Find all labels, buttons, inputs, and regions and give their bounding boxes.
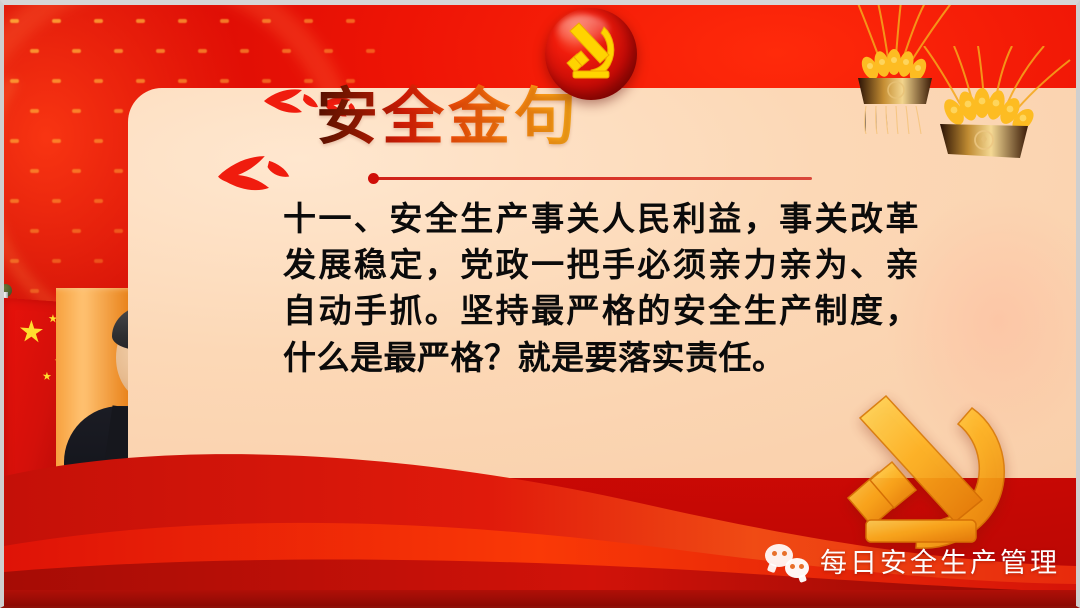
particle-dot xyxy=(52,19,61,23)
particle-dot xyxy=(30,229,39,233)
quote-body-text: 十一、安全生产事关人民利益，事关改革发展稳定，党政一把手必须亲力亲为、亲自动手抓… xyxy=(283,196,919,381)
watermark: 每日安全生产管理 xyxy=(765,541,1060,580)
particle-dot xyxy=(156,49,165,53)
particle-dot xyxy=(262,79,271,83)
particle-dot xyxy=(30,49,39,53)
particle-dot xyxy=(10,139,19,143)
particle-dot xyxy=(304,79,313,83)
dove-icon xyxy=(262,88,318,122)
particle-dot xyxy=(30,109,39,113)
particle-dot xyxy=(94,19,103,23)
particle-dot xyxy=(94,79,103,83)
particle-dot xyxy=(178,79,187,83)
particle-dot xyxy=(72,229,81,233)
particle-dot xyxy=(52,139,61,143)
particle-dot xyxy=(304,19,313,23)
particle-dot xyxy=(346,19,355,23)
particle-dot xyxy=(72,109,81,113)
particle-dot xyxy=(366,49,375,53)
particle-dot xyxy=(94,139,103,143)
particle-dot xyxy=(240,49,249,53)
particle-dot xyxy=(282,49,291,53)
bottom-strip xyxy=(4,590,1076,606)
particle-dot xyxy=(72,169,81,173)
particle-dot xyxy=(114,49,123,53)
particle-dot xyxy=(220,19,229,23)
particle-dot xyxy=(136,19,145,23)
particle-dot xyxy=(52,79,61,83)
particle-dot xyxy=(220,79,229,83)
wechat-icon xyxy=(765,544,809,578)
particle-dot xyxy=(10,259,19,263)
dove-icon xyxy=(215,149,292,198)
particle-dot xyxy=(52,199,61,203)
title-rule xyxy=(372,177,812,180)
particle-dot xyxy=(262,19,271,23)
golden-hammer-sickle-icon xyxy=(820,392,1040,552)
particle-dot xyxy=(178,19,187,23)
particle-dot xyxy=(324,49,333,53)
particle-dot xyxy=(52,259,61,263)
particle-dot xyxy=(10,19,19,23)
particle-dot xyxy=(10,199,19,203)
particle-dot xyxy=(10,79,19,83)
watermark-text: 每日安全生产管理 xyxy=(820,541,1060,580)
slide-canvas: ★ ★ ★ ★ ★ xyxy=(0,0,1080,608)
hammer-sickle-emblem xyxy=(545,8,637,100)
page-title: 安全金句 xyxy=(316,84,580,149)
particle-dot xyxy=(94,199,103,203)
particle-dot xyxy=(198,49,207,53)
particle-dot xyxy=(72,49,81,53)
particle-dot xyxy=(30,169,39,173)
particle-dot xyxy=(94,259,103,263)
title-rule-dot xyxy=(368,173,379,184)
golden-lantern-icon xyxy=(920,46,1080,196)
particle-dot xyxy=(136,79,145,83)
